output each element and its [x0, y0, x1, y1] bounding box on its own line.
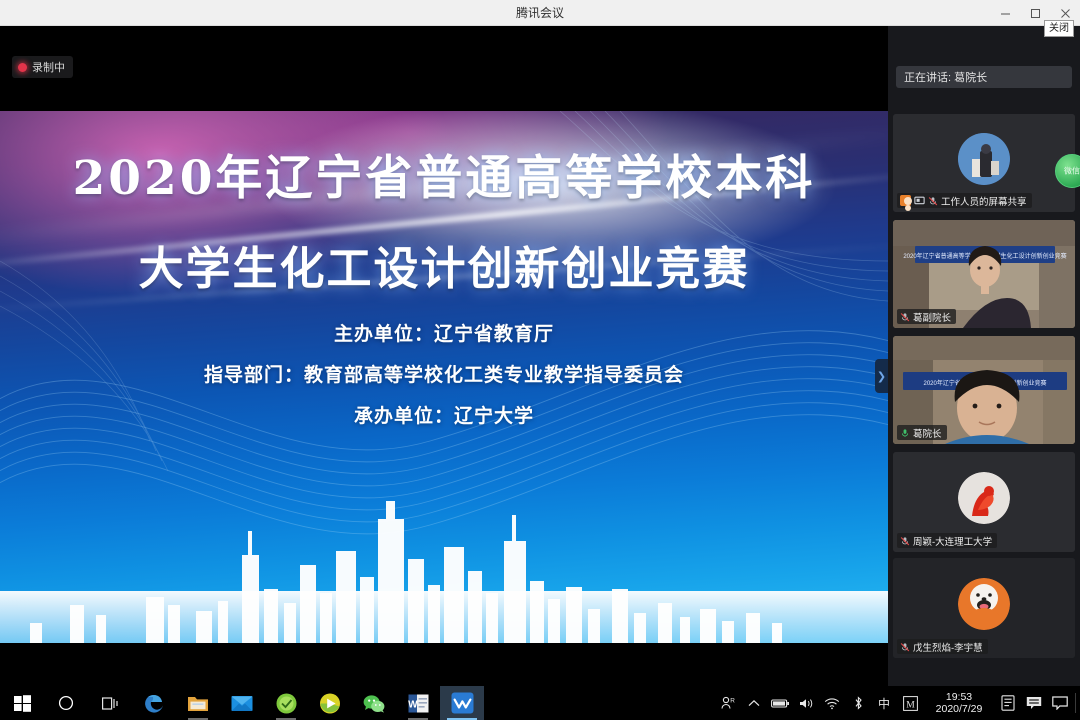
chevron-up-icon[interactable]	[741, 686, 767, 720]
user-avatar-icon	[900, 195, 911, 206]
svg-text:R: R	[730, 697, 735, 704]
mic-active-icon	[900, 428, 910, 438]
system-tray: R	[715, 686, 1080, 720]
minimize-button[interactable]	[990, 0, 1020, 26]
movies-tv-icon	[319, 693, 341, 714]
chat-icon[interactable]	[1021, 686, 1047, 720]
participant-name: 葛副院长	[913, 310, 951, 324]
close-button-tooltip: 关闭	[1044, 20, 1074, 37]
avatar-photo-icon	[958, 472, 1010, 524]
wechat-float-label: 微信	[1064, 166, 1080, 177]
slide-host-line: 承办单位：辽宁大学	[354, 401, 534, 428]
recording-label: 录制中	[32, 59, 65, 75]
taskbar-search-button[interactable]	[44, 686, 88, 720]
participant-name: 工作人员的屏幕共享	[941, 194, 1027, 208]
avatar	[958, 133, 1010, 185]
wechat-button[interactable]	[352, 686, 396, 720]
task-view-button[interactable]	[88, 686, 132, 720]
participant-name: 戊生烈焰-李宇慧	[913, 640, 983, 654]
screen-share-icon	[914, 196, 925, 206]
participant-tile[interactable]: 工作人员的屏幕共享	[893, 114, 1075, 212]
tile-label: 葛院长	[897, 425, 947, 440]
presentation-slide: 2020年辽宁省普通高等学校本科 大学生化工设计创新创业竞赛 主办单位：辽宁省教…	[0, 111, 888, 643]
movies-tv-button[interactable]	[308, 686, 352, 720]
meeting-stage: 录制中	[0, 26, 888, 686]
slide-title-line-1: 2020年辽宁省普通高等学校本科	[73, 139, 816, 208]
participant-tile[interactable]: 2020年辽宁省普通高等学校本科 创新创业竞赛 葛院长	[893, 336, 1075, 444]
close-icon	[1060, 8, 1071, 19]
participant-tile[interactable]: 2020年辽宁省普通高等学校本科大学生化工设计创新创业竞赛 葛副院长	[893, 220, 1075, 328]
window-title: 腾讯会议	[0, 0, 1080, 26]
green-app-button[interactable]	[264, 686, 308, 720]
slide-title-line-2: 大学生化工设计创新创业竞赛	[138, 232, 749, 297]
task-view-icon	[102, 696, 119, 711]
taskbar-clock[interactable]: 19:53 2020/7/29	[923, 686, 995, 720]
bluetooth-icon[interactable]	[845, 686, 871, 720]
avatar-photo-icon	[958, 133, 1010, 185]
participant-tile[interactable]: 周颖-大连理工大学	[893, 452, 1075, 552]
shared-screen-area[interactable]: 2020年辽宁省普通高等学校本科 大学生化工设计创新创业竞赛 主办单位：辽宁省教…	[0, 111, 888, 643]
tile-label: 工作人员的屏幕共享	[897, 193, 1032, 208]
windows-taskbar: W R	[0, 686, 1080, 720]
svg-text:M: M	[906, 699, 915, 710]
notes-icon[interactable]	[995, 686, 1021, 720]
recording-dot-icon	[18, 63, 27, 72]
edge-icon	[143, 692, 165, 714]
ime-chinese-icon[interactable]: 中	[871, 686, 897, 720]
wechat-icon	[363, 694, 385, 713]
search-circle-icon	[58, 695, 74, 711]
avatar	[958, 578, 1010, 630]
mic-muted-icon	[928, 196, 938, 206]
people-icon[interactable]: R	[715, 686, 741, 720]
tencent-meeting-icon	[451, 692, 474, 714]
avatar-photo-icon	[958, 578, 1010, 630]
avatar	[958, 472, 1010, 524]
clock-time: 19:53	[946, 691, 972, 703]
window-title-bar: 腾讯会议 关闭	[0, 0, 1080, 26]
tencent-meeting-button[interactable]	[440, 686, 484, 720]
battery-icon[interactable]	[767, 686, 793, 720]
windows-start-icon	[14, 695, 31, 712]
word-button[interactable]: W	[396, 686, 440, 720]
mic-muted-icon	[900, 536, 910, 546]
slide-organizer-line: 主办单位：辽宁省教育厅	[334, 319, 554, 346]
participant-name: 葛院长	[913, 426, 942, 440]
tile-label: 戊生烈焰-李宇慧	[897, 639, 988, 654]
maximize-icon	[1030, 8, 1041, 19]
participant-rail: 正在讲话: 葛院长	[888, 26, 1080, 686]
tencent-meeting-window: 腾讯会议 关闭 录制中	[0, 0, 1080, 720]
ime-m-icon[interactable]: M	[897, 686, 923, 720]
slide-text-block: 2020年辽宁省普通高等学校本科 大学生化工设计创新创业竞赛 主办单位：辽宁省教…	[0, 111, 888, 643]
wifi-icon[interactable]	[819, 686, 845, 720]
notification-icon[interactable]	[1047, 686, 1073, 720]
mic-muted-icon	[900, 642, 910, 652]
active-speaker-banner: 正在讲话: 葛院长	[896, 66, 1072, 88]
slide-guidance-line: 指导部门：教育部高等学校化工类专业教学指导委员会	[204, 360, 684, 387]
file-explorer-button[interactable]	[176, 686, 220, 720]
participant-name: 周颖-大连理工大学	[913, 534, 992, 548]
clock-date: 2020/7/29	[936, 703, 983, 715]
green-app-icon	[276, 693, 297, 714]
tile-label: 葛副院长	[897, 309, 956, 324]
word-icon: W	[408, 693, 429, 714]
edge-button[interactable]	[132, 686, 176, 720]
participant-tile[interactable]: 戊生烈焰-李宇慧	[893, 558, 1075, 658]
tile-label: 周颖-大连理工大学	[897, 533, 997, 548]
svg-text:W: W	[408, 699, 418, 710]
start-button[interactable]	[0, 686, 44, 720]
volume-icon[interactable]	[793, 686, 819, 720]
tray-divider	[1075, 693, 1076, 713]
mic-muted-icon	[900, 312, 910, 322]
mail-button[interactable]	[220, 686, 264, 720]
active-speaker-label: 正在讲话: 葛院长	[904, 69, 987, 85]
recording-badge: 录制中	[12, 56, 73, 78]
collapse-panel-button[interactable]: ❯	[875, 359, 888, 393]
file-explorer-icon	[187, 694, 209, 713]
taskbar-apps: W	[0, 686, 484, 720]
minimize-icon	[1000, 8, 1011, 19]
mail-icon	[231, 695, 253, 712]
